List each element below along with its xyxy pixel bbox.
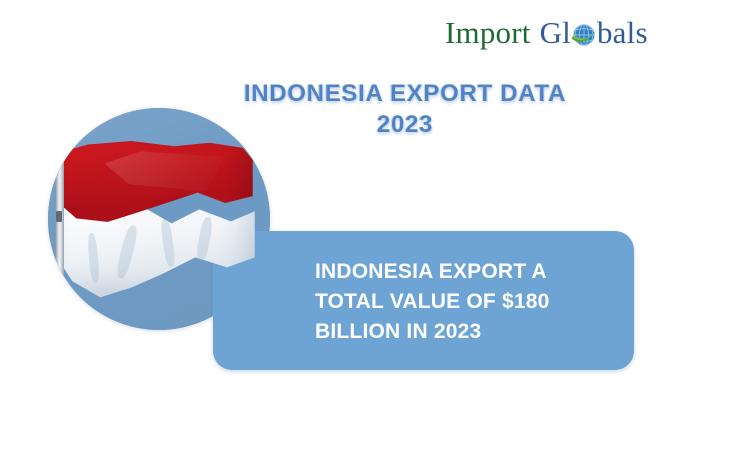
globe-icon bbox=[570, 21, 598, 49]
statement-line-2: TOTAL VALUE OF $180 bbox=[315, 287, 615, 317]
brand-logo[interactable]: Import Gl bals bbox=[445, 12, 648, 54]
brand-word-gl: Gl bbox=[540, 15, 571, 51]
statement-line-3: BILLION IN 2023 bbox=[315, 317, 615, 347]
statement-banner: INDONESIA EXPORT A TOTAL VALUE OF $180 B… bbox=[213, 231, 634, 370]
brand-word-bals: bals bbox=[597, 15, 648, 51]
flagpole bbox=[55, 115, 64, 330]
brand-word-import: Import bbox=[445, 15, 531, 51]
statement-line-1: INDONESIA EXPORT A bbox=[315, 257, 615, 287]
page-title-line-1: INDONESIA EXPORT DATA bbox=[150, 78, 660, 109]
infographic-canvas: Import Gl bals INDONESIA EXPORT DATA bbox=[0, 0, 750, 450]
statement-text: INDONESIA EXPORT A TOTAL VALUE OF $180 B… bbox=[315, 257, 615, 347]
